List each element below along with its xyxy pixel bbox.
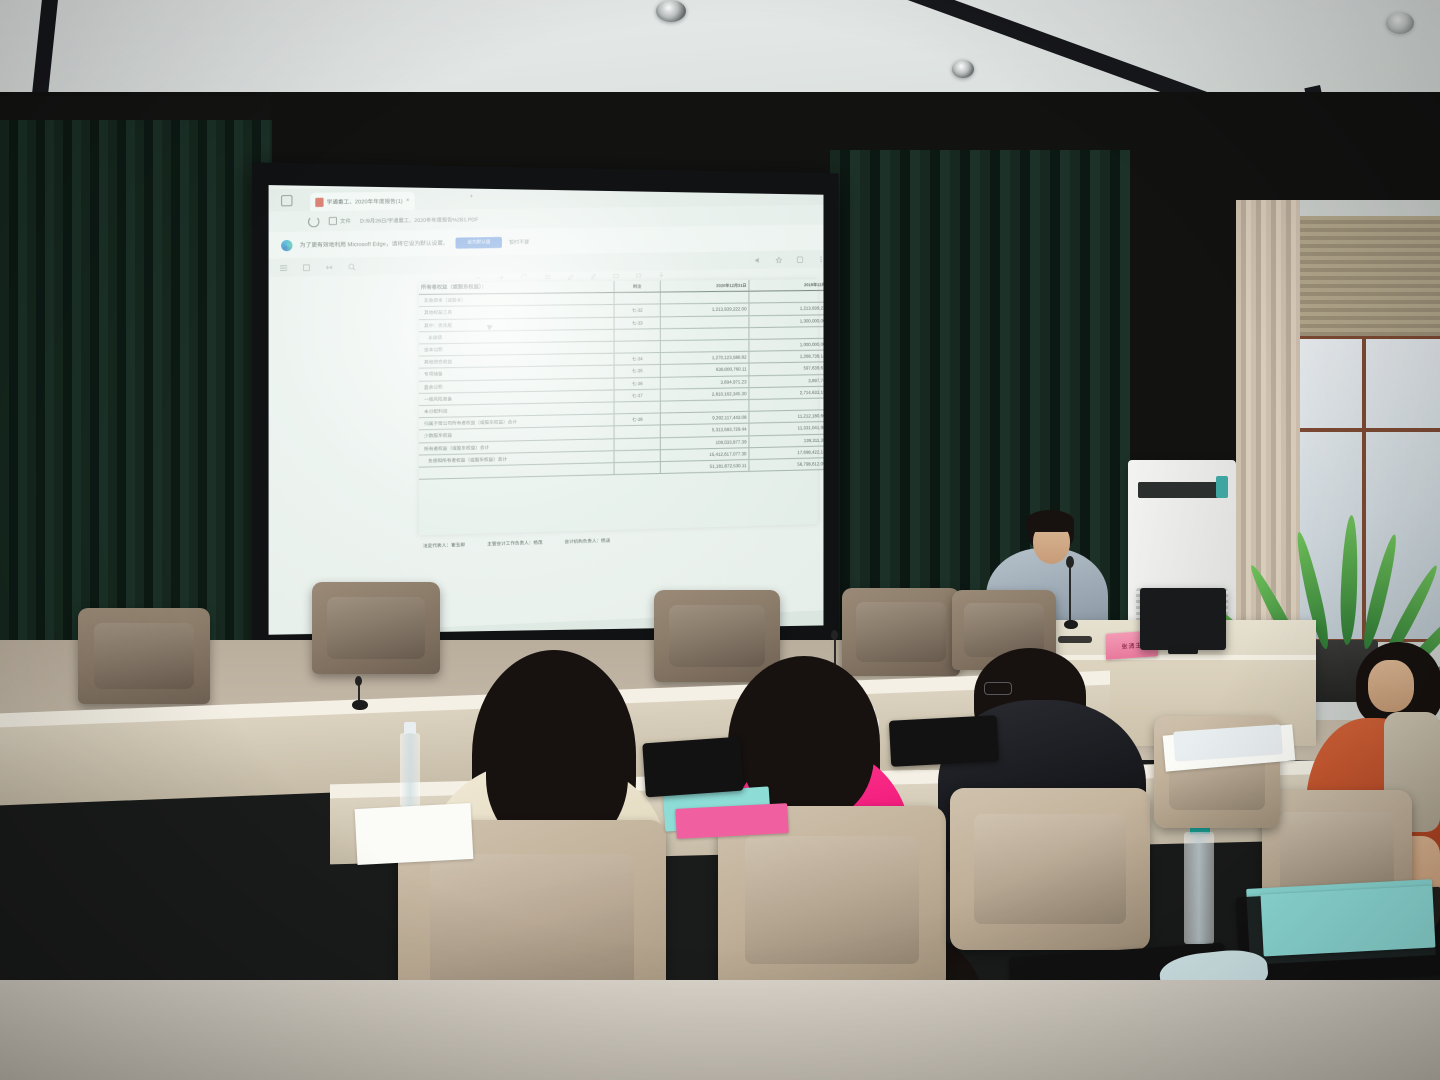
signature-row: 法定代表人：崔玉柳 主管会计工作负责人：杨茂 会计机构负责人：杨涵 — [423, 532, 814, 549]
table-cell-note: 七-34 — [614, 353, 660, 366]
presenter-hair-top — [1026, 510, 1074, 532]
read-aloud-icon[interactable] — [753, 255, 762, 264]
browser-tab[interactable]: 宇通重工、2020年年度报告(1) × — [310, 192, 414, 211]
pdf-toolbar-right-group — [753, 250, 823, 269]
table-cell-value-2019: 1,300,000,000.00 — [749, 314, 824, 327]
table-column-header: 2020年12月31日 — [660, 280, 749, 292]
document-folder — [675, 803, 788, 839]
collections-icon[interactable] — [775, 255, 784, 264]
browser-window: 宇通重工、2020年年度报告(1) × + 文件 D:/9月26日/宇通重工、2… — [269, 185, 824, 635]
table-cell-value-2020: 51,181,872,530.11 — [660, 460, 749, 474]
table-cell-note: 七-36 — [614, 377, 660, 390]
monitor-stand — [1168, 646, 1198, 654]
curtain-left — [0, 120, 272, 680]
table-cell-value-2020: 1,213,939,222.00 — [660, 303, 749, 316]
table-cell-value-2020 — [660, 315, 749, 328]
table-cell-note — [614, 401, 660, 414]
tab-close-button[interactable]: × — [406, 198, 410, 204]
table-cell-value-2019: 11,212,180,661.30 — [749, 410, 824, 424]
address-bar-url: D:/9月26日/宇通重工、2020年年度报告%2B1.PDF — [360, 216, 478, 225]
erase-icon[interactable] — [611, 271, 620, 280]
highlight-icon[interactable] — [588, 271, 597, 280]
save-icon[interactable] — [656, 270, 665, 279]
table-cell-value-2019: 1,268,738,146.22 — [749, 350, 824, 363]
leather-chair — [654, 590, 780, 682]
rotate-icon[interactable] — [519, 272, 528, 281]
table-column-header: 附注 — [614, 281, 660, 293]
zoom-in-icon[interactable] — [496, 273, 505, 282]
banner-text: 为了更有效地利用 Microsoft Edge，请将它设为默认设置。 — [300, 239, 449, 249]
downlight-icon — [656, 0, 686, 22]
fit-width-icon[interactable] — [543, 272, 552, 281]
add-notes-icon[interactable] — [796, 255, 805, 264]
pdf-file-icon — [315, 197, 323, 206]
table-cell-note: 七-35 — [614, 365, 660, 378]
leather-chair — [78, 608, 210, 704]
leather-chair — [842, 588, 960, 676]
table-cell-value-2019: 139,311,381.12 — [749, 434, 824, 448]
tab-title: 宇通重工、2020年年度报告(1) — [327, 197, 403, 206]
table-cell-note — [614, 437, 660, 450]
print-icon[interactable] — [634, 270, 643, 279]
table-cell-value-2020 — [660, 291, 749, 304]
window-icon — [281, 195, 292, 206]
table-cell-value-2019: 597,639,612.73 — [749, 362, 824, 375]
legal-representative: 法定代表人：崔玉柳 — [423, 542, 465, 549]
gooseneck-microphone — [1064, 556, 1076, 636]
eyeglasses — [1058, 636, 1092, 643]
set-default-label: 设为默认值 — [467, 239, 490, 245]
fit-page-icon[interactable] — [325, 262, 334, 271]
table-cell-note: 七-38 — [614, 413, 660, 426]
hamburger-menu-icon[interactable] — [279, 263, 288, 272]
draw-icon[interactable] — [565, 271, 574, 280]
floor — [0, 980, 1440, 1080]
table-cell-value-2019: 17,698,422,137.75 — [749, 446, 824, 460]
table-cell-value-2019: 56,798,612,096.32 — [749, 458, 824, 472]
table-cell-value-2020: 2,810,162,345.30 — [660, 388, 749, 402]
table-cell-note: 七-32 — [614, 304, 660, 317]
more-options-icon[interactable] — [817, 254, 824, 263]
table-cell-note — [614, 425, 660, 438]
table-cell-value-2019 — [749, 326, 824, 339]
table-cell-value-2019: 2,714,633,158.75 — [749, 386, 824, 400]
financial-statement-table: 所有者权益（或股东权益）：附注2020年12月31日2019年12月31日实收资… — [419, 279, 824, 480]
table-cell-value-2020: 636,000,760.11 — [660, 363, 749, 376]
reload-icon[interactable] — [308, 216, 319, 227]
downlight-icon — [1386, 12, 1414, 34]
table-cell-note — [614, 450, 660, 463]
file-pill[interactable]: 文件 — [329, 217, 351, 225]
water-bottle — [1182, 818, 1216, 946]
file-pill-label: 文件 — [340, 217, 351, 224]
window-mullion-horizontal — [1288, 428, 1440, 432]
gooseneck-microphone — [352, 676, 366, 714]
table-cell-value-2019 — [749, 291, 824, 304]
conference-room-photo: 宇通重工、2020年年度报告(1) × + 文件 D:/9月26日/宇通重工、2… — [0, 0, 1440, 1080]
leather-chair — [950, 788, 1150, 950]
table-cell-value-2019: 11,331,041,981.82 — [749, 422, 824, 436]
document-folder — [1260, 886, 1435, 957]
attendee-face — [1368, 660, 1414, 712]
not-now-button[interactable]: 暂时不要 — [509, 238, 529, 245]
file-icon — [329, 217, 337, 225]
table-cell-value-2020: 9,392,117,443.08 — [660, 412, 749, 426]
downlight-icon — [952, 60, 974, 78]
table-cell-value-2019: 3,897,746.62 — [749, 374, 824, 387]
table-cell-note — [614, 462, 660, 475]
edge-logo-icon — [281, 239, 292, 250]
accounting-head: 主管会计工作负责人：杨茂 — [487, 540, 542, 548]
pdf-page: 所有者权益（或股东权益）：附注2020年12月31日2019年12月31日实收资… — [419, 279, 818, 535]
table-cell-value-2019: 1,213,939,222.00 — [749, 302, 824, 315]
table-cell-value-2019: 1,000,000,000.00 — [749, 338, 824, 351]
ac-badge — [1216, 476, 1228, 498]
table-cell-value-2020: 1,270,123,586.82 — [660, 351, 749, 364]
projected-image: 宇通重工、2020年年度报告(1) × + 文件 D:/9月26日/宇通重工、2… — [269, 185, 824, 635]
document-paper — [355, 803, 474, 865]
zoom-out-icon[interactable] — [473, 273, 482, 282]
accounting-officer: 会计机构负责人：杨涵 — [564, 538, 610, 545]
set-default-button[interactable]: 设为默认值 — [456, 236, 502, 248]
ac-display-panel — [1138, 482, 1226, 498]
table-cell-note — [614, 329, 660, 342]
laptop-bag — [642, 737, 744, 798]
new-tab-button[interactable]: + — [470, 194, 474, 200]
table-column-header: 2019年12月31日 — [749, 279, 824, 291]
water-bottle — [398, 722, 422, 808]
search-icon[interactable] — [347, 262, 356, 271]
table-cell-note: 七-33 — [614, 316, 660, 329]
eyeglasses — [984, 682, 1012, 695]
table-cell-note: 七-37 — [614, 389, 660, 402]
window-blind — [1288, 216, 1440, 336]
desktop-monitor — [1140, 588, 1226, 650]
page-thumbnail-icon[interactable] — [302, 263, 311, 272]
table-cell-value-2020: 3,694,971.23 — [660, 375, 749, 389]
laptop-bag — [889, 715, 999, 767]
leather-chair — [312, 582, 440, 674]
table-cell-note — [614, 341, 660, 354]
table-cell-note — [614, 292, 660, 305]
